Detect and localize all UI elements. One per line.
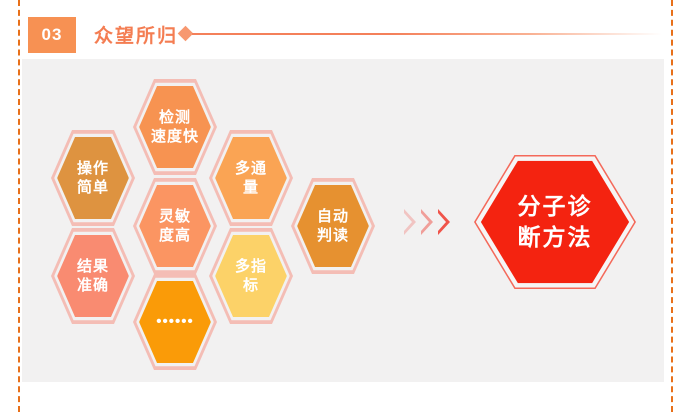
target-label: 分子诊断方法	[474, 155, 636, 289]
hexagon-label: 检测速度快	[133, 79, 217, 175]
chevron-icon-1	[404, 209, 416, 235]
hexagon-label-line: 度高	[159, 226, 191, 245]
hexagon-multi-channel[interactable]: 多通量	[209, 130, 293, 226]
hexagon-label-line: 简单	[77, 178, 109, 197]
hexagon-label-line: 判读	[317, 226, 349, 245]
page-rail-left	[18, 0, 20, 412]
hexagon-label-line: 自动	[317, 207, 349, 226]
hexagon-label: 多通量	[209, 130, 293, 226]
hexagon-operation-simple[interactable]: 操作简单	[51, 130, 135, 226]
hexagon-label: 操作简单	[51, 130, 135, 226]
hexagon-auto-interpret[interactable]: 自动判读	[291, 178, 375, 274]
hexagon-label: 多指标	[209, 228, 293, 324]
hexagon-label-line: 量	[243, 178, 259, 197]
hexagon-multi-indicator[interactable]: 多指标	[209, 228, 293, 324]
hexagon-high-sensitivity[interactable]: 灵敏度高	[133, 178, 217, 274]
hexagon-label-line: 多通	[235, 159, 267, 178]
chevron-icon-2	[421, 209, 433, 235]
target-label-line: 分子诊	[518, 191, 593, 222]
hexagon-label-line: 灵敏	[159, 207, 191, 226]
section-number-badge: 03	[28, 17, 76, 53]
hexagon-label-line: ••••••	[156, 312, 194, 331]
header-divider-line	[192, 33, 662, 35]
slide-canvas: 03 众望所归 操作简单检测速度快多通量自动判读灵敏度高多指标结果准确•••••…	[0, 0, 689, 412]
hexagon-label-line: 结果	[77, 257, 109, 276]
page-rail-right	[671, 0, 673, 412]
hexagon-label: 结果准确	[51, 228, 135, 324]
chevron-notch	[438, 213, 446, 231]
hexagon-label-line: 速度快	[151, 127, 199, 146]
chevron-icon-3	[438, 209, 450, 235]
hexagon-label-line: 多指	[235, 257, 267, 276]
hexagon-accurate-result[interactable]: 结果准确	[51, 228, 135, 324]
target-label-line: 断方法	[518, 222, 593, 253]
hexagon-label: ••••••	[133, 274, 217, 370]
hexagon-label-line: 检测	[159, 108, 191, 127]
hexagon-label-line: 准确	[77, 276, 109, 295]
chevron-notch	[404, 213, 412, 231]
hexagon-more-ellipsis[interactable]: ••••••	[133, 274, 217, 370]
hexagon-label-line: 标	[243, 276, 259, 295]
hexagon-detection-speed[interactable]: 检测速度快	[133, 79, 217, 175]
hexagon-molecular-diagnostics[interactable]: 分子诊断方法	[474, 155, 636, 289]
page-title: 众望所归	[94, 21, 178, 48]
diamond-marker-icon	[178, 26, 194, 42]
hexagon-label: 灵敏度高	[133, 178, 217, 274]
chevron-notch	[421, 213, 429, 231]
section-number-label: 03	[42, 25, 63, 45]
hexagon-label-line: 操作	[77, 159, 109, 178]
hexagon-label: 自动判读	[291, 178, 375, 274]
